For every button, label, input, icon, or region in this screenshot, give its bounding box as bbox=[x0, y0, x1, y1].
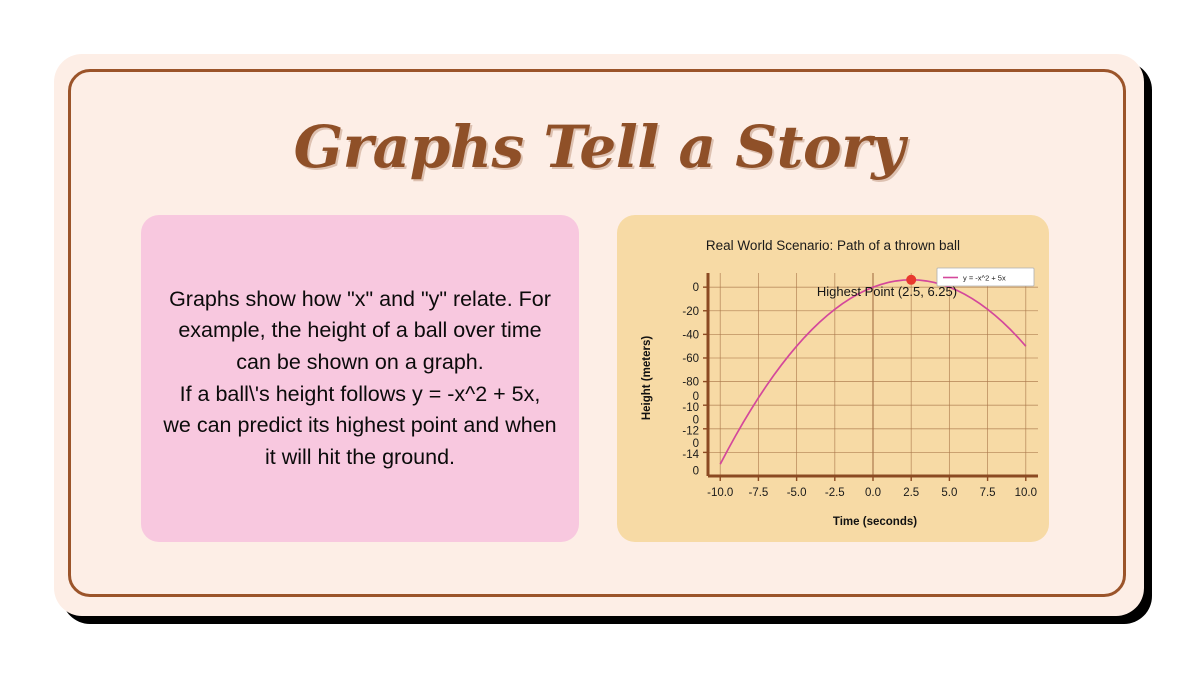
chart-gridlines bbox=[708, 273, 1038, 476]
chart-panel: Real World Scenario: Path of a thrown ba… bbox=[617, 215, 1049, 542]
y-tick-label-overflow: 0 bbox=[693, 465, 699, 477]
chart-legend[interactable]: y = -x^2 + 5x bbox=[937, 268, 1034, 286]
y-tick-label: -80 bbox=[682, 377, 699, 389]
y-tick-label: 0-12 bbox=[682, 415, 699, 438]
y-tick-label: 0-10 bbox=[682, 391, 699, 414]
page-title: Graphs Tell a Story bbox=[54, 113, 1144, 181]
y-tick-label: -40 bbox=[682, 329, 699, 341]
body-text-panel: Graphs show how "x" and "y" relate. For … bbox=[141, 215, 579, 542]
x-tick-label: 5.0 bbox=[941, 487, 957, 499]
y-tick-label: -20 bbox=[682, 306, 699, 318]
x-tick-label: 7.5 bbox=[980, 487, 996, 499]
x-tick-label: -5.0 bbox=[787, 487, 807, 499]
y-tick-label: -60 bbox=[682, 353, 699, 365]
x-tick-label: -2.5 bbox=[825, 487, 845, 499]
x-axis-title: Time (seconds) bbox=[833, 516, 917, 528]
body-paragraph: Graphs show how "x" and "y" relate. For … bbox=[163, 284, 557, 474]
legend-label: y = -x^2 + 5x bbox=[963, 274, 1006, 283]
x-tick-label: -7.5 bbox=[749, 487, 769, 499]
x-tick-label: 0.0 bbox=[865, 487, 881, 499]
y-axis-ticks: 0-20-40-60-800-100-120-140 bbox=[682, 282, 708, 477]
chart-title: Real World Scenario: Path of a thrown ba… bbox=[706, 238, 960, 253]
highest-point-label: Highest Point (2.5, 6.25) bbox=[817, 284, 957, 299]
y-tick-label: 0 bbox=[693, 282, 699, 294]
x-tick-label: 2.5 bbox=[903, 487, 919, 499]
slide-root: Graphs Tell a Story Graphs show how "x" … bbox=[0, 0, 1200, 675]
scatter-line-chart: Real World Scenario: Path of a thrown ba… bbox=[617, 215, 1049, 542]
y-tick-label: 0-14 bbox=[682, 438, 699, 461]
x-axis-ticks: -10.0-7.5-5.0-2.50.02.55.07.510.0 bbox=[707, 476, 1037, 499]
y-axis-title: Height (meters) bbox=[641, 336, 653, 421]
x-tick-label: 10.0 bbox=[1015, 487, 1037, 499]
x-tick-label: -10.0 bbox=[707, 487, 733, 499]
